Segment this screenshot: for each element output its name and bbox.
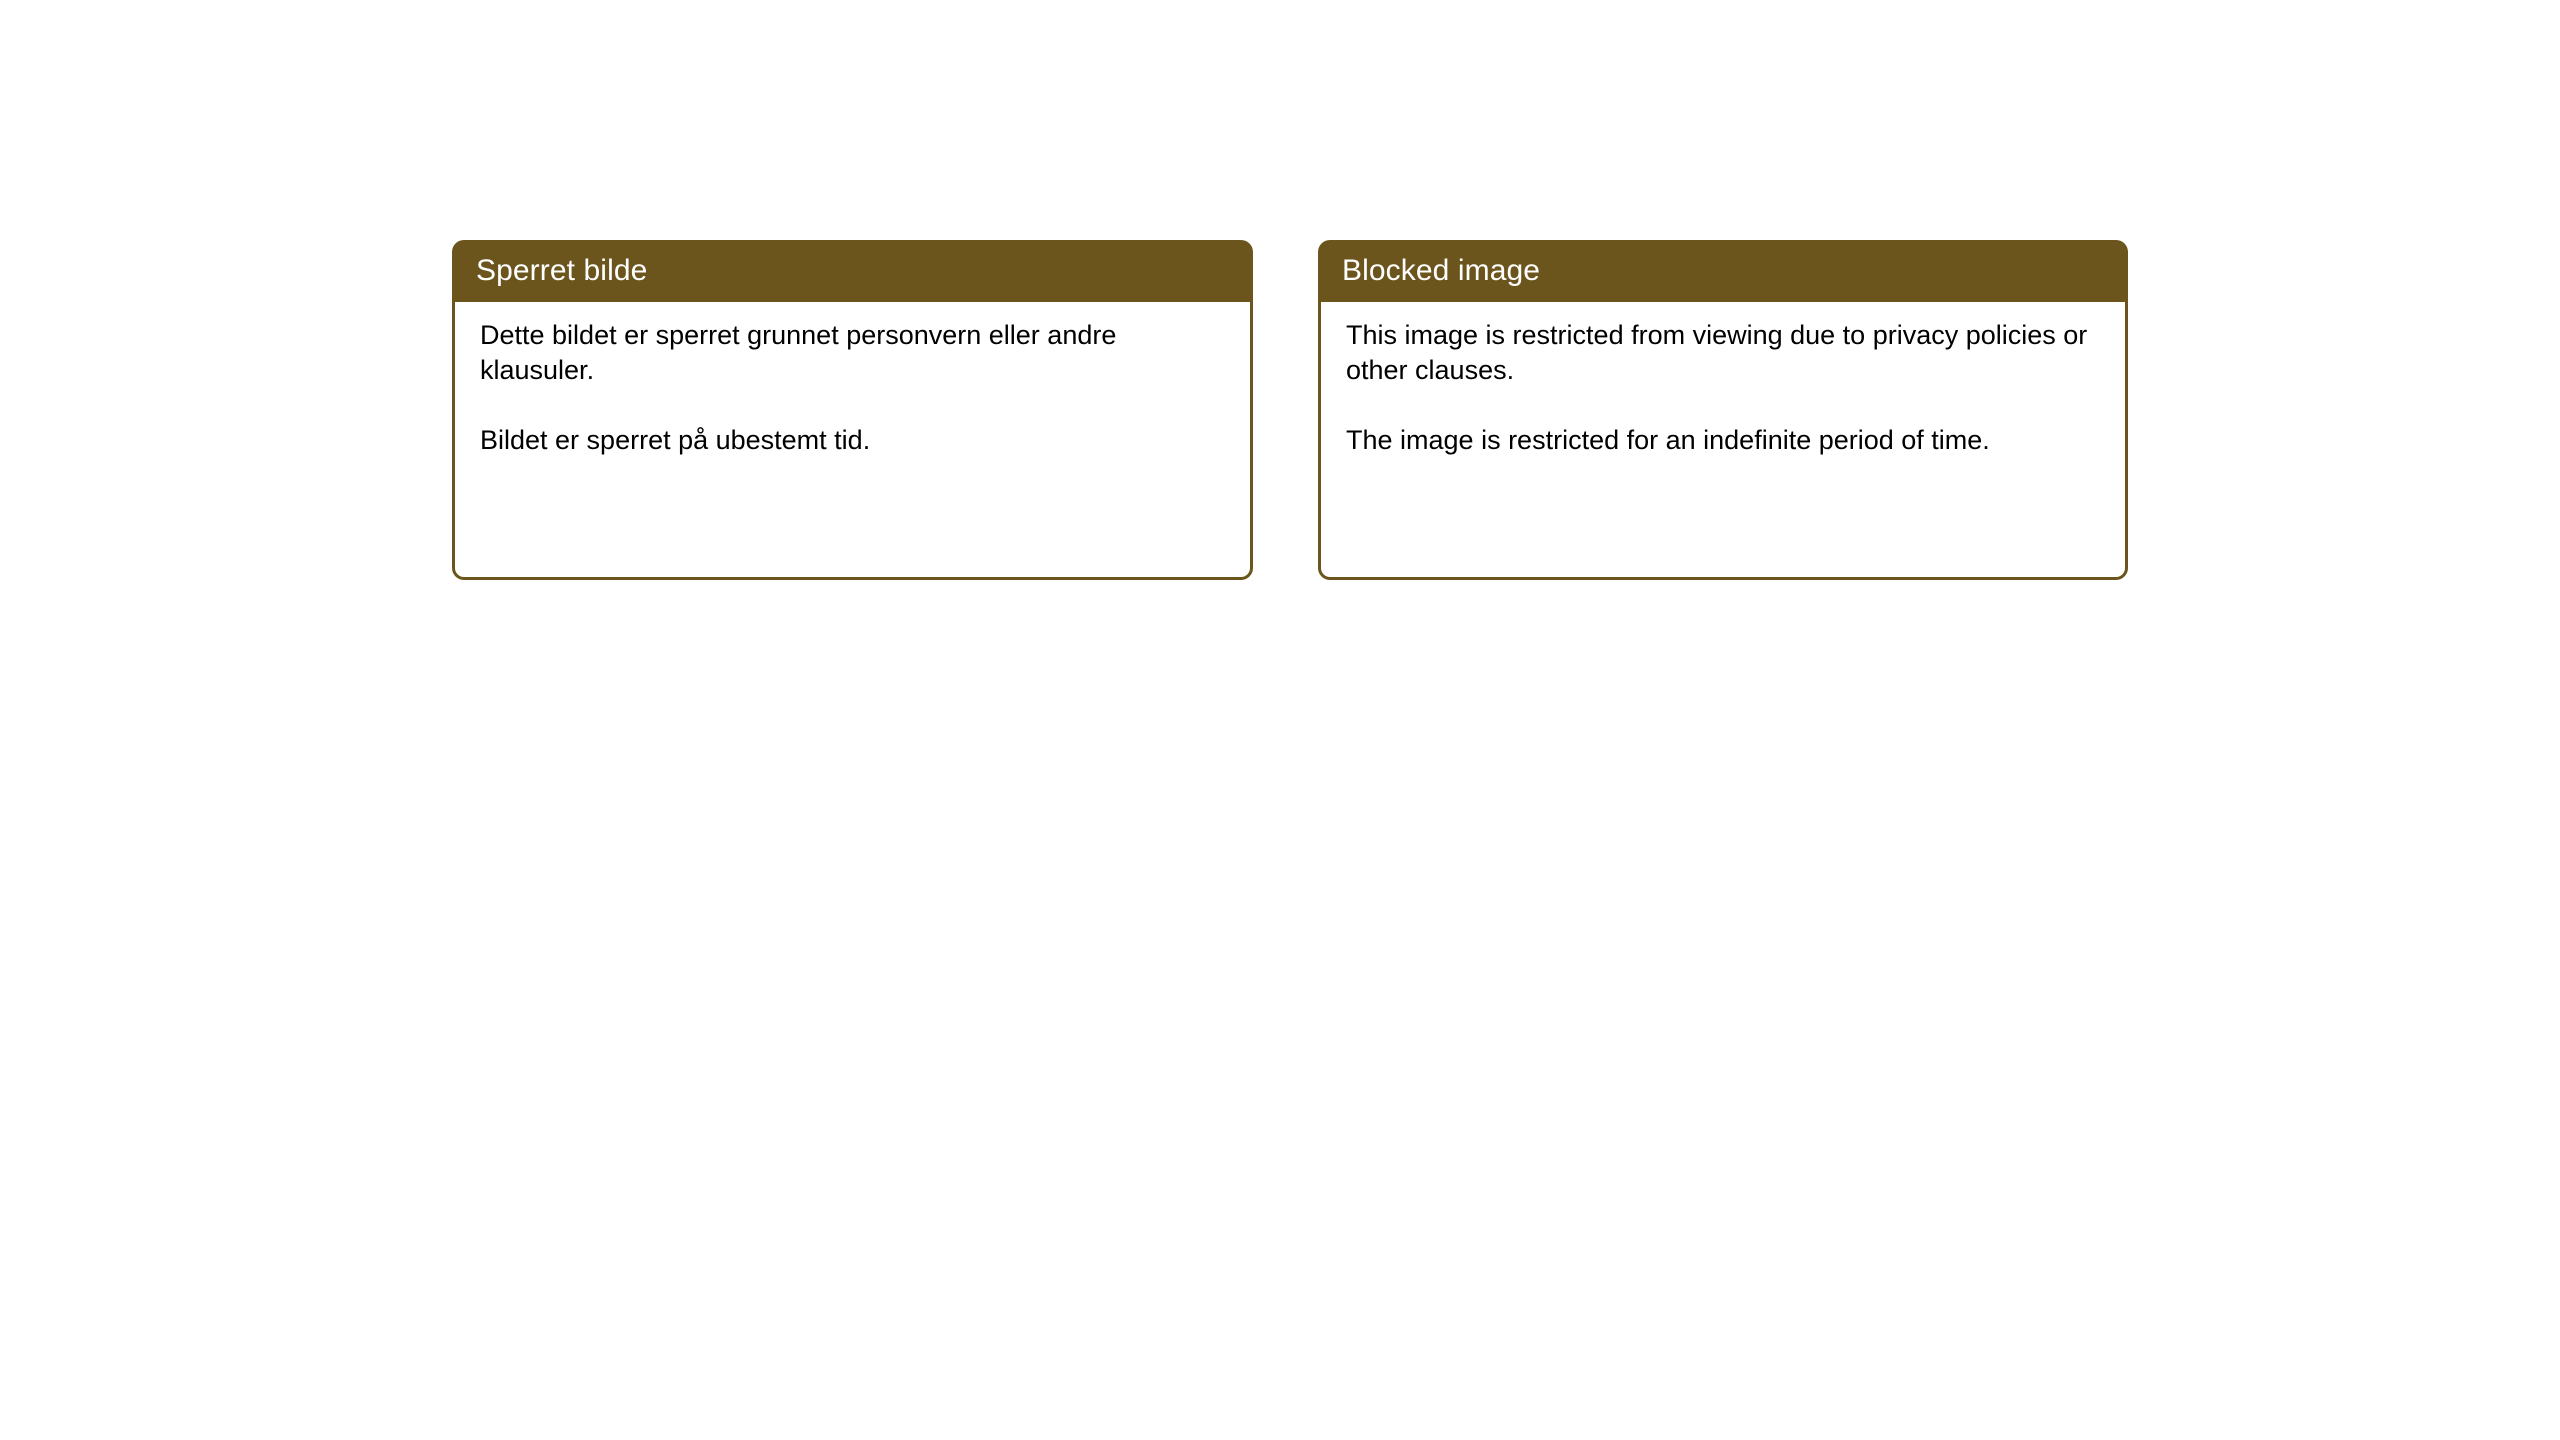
panel-paragraph-primary-english: This image is restricted from viewing du…: [1346, 318, 2103, 388]
panel-title-norwegian: Sperret bilde: [476, 254, 647, 288]
panel-paragraph-primary-norwegian: Dette bildet er sperret grunnet personve…: [480, 318, 1228, 388]
blocked-image-notice-english: Blocked image This image is restricted f…: [1318, 240, 2128, 580]
panel-title-english: Blocked image: [1342, 254, 1540, 288]
panel-body-english: This image is restricted from viewing du…: [1318, 302, 2128, 580]
page-root: Sperret bilde Dette bildet er sperret gr…: [0, 0, 2560, 1440]
panel-body-norwegian: Dette bildet er sperret grunnet personve…: [452, 302, 1253, 580]
panel-paragraph-secondary-english: The image is restricted for an indefinit…: [1346, 423, 2103, 458]
panel-header-norwegian: Sperret bilde: [452, 240, 1253, 302]
panel-paragraph-secondary-norwegian: Bildet er sperret på ubestemt tid.: [480, 423, 1228, 458]
panel-header-english: Blocked image: [1318, 240, 2128, 302]
paragraph-spacer: [1346, 388, 2103, 423]
paragraph-spacer: [480, 388, 1228, 423]
blocked-image-notice-norwegian: Sperret bilde Dette bildet er sperret gr…: [452, 240, 1253, 580]
